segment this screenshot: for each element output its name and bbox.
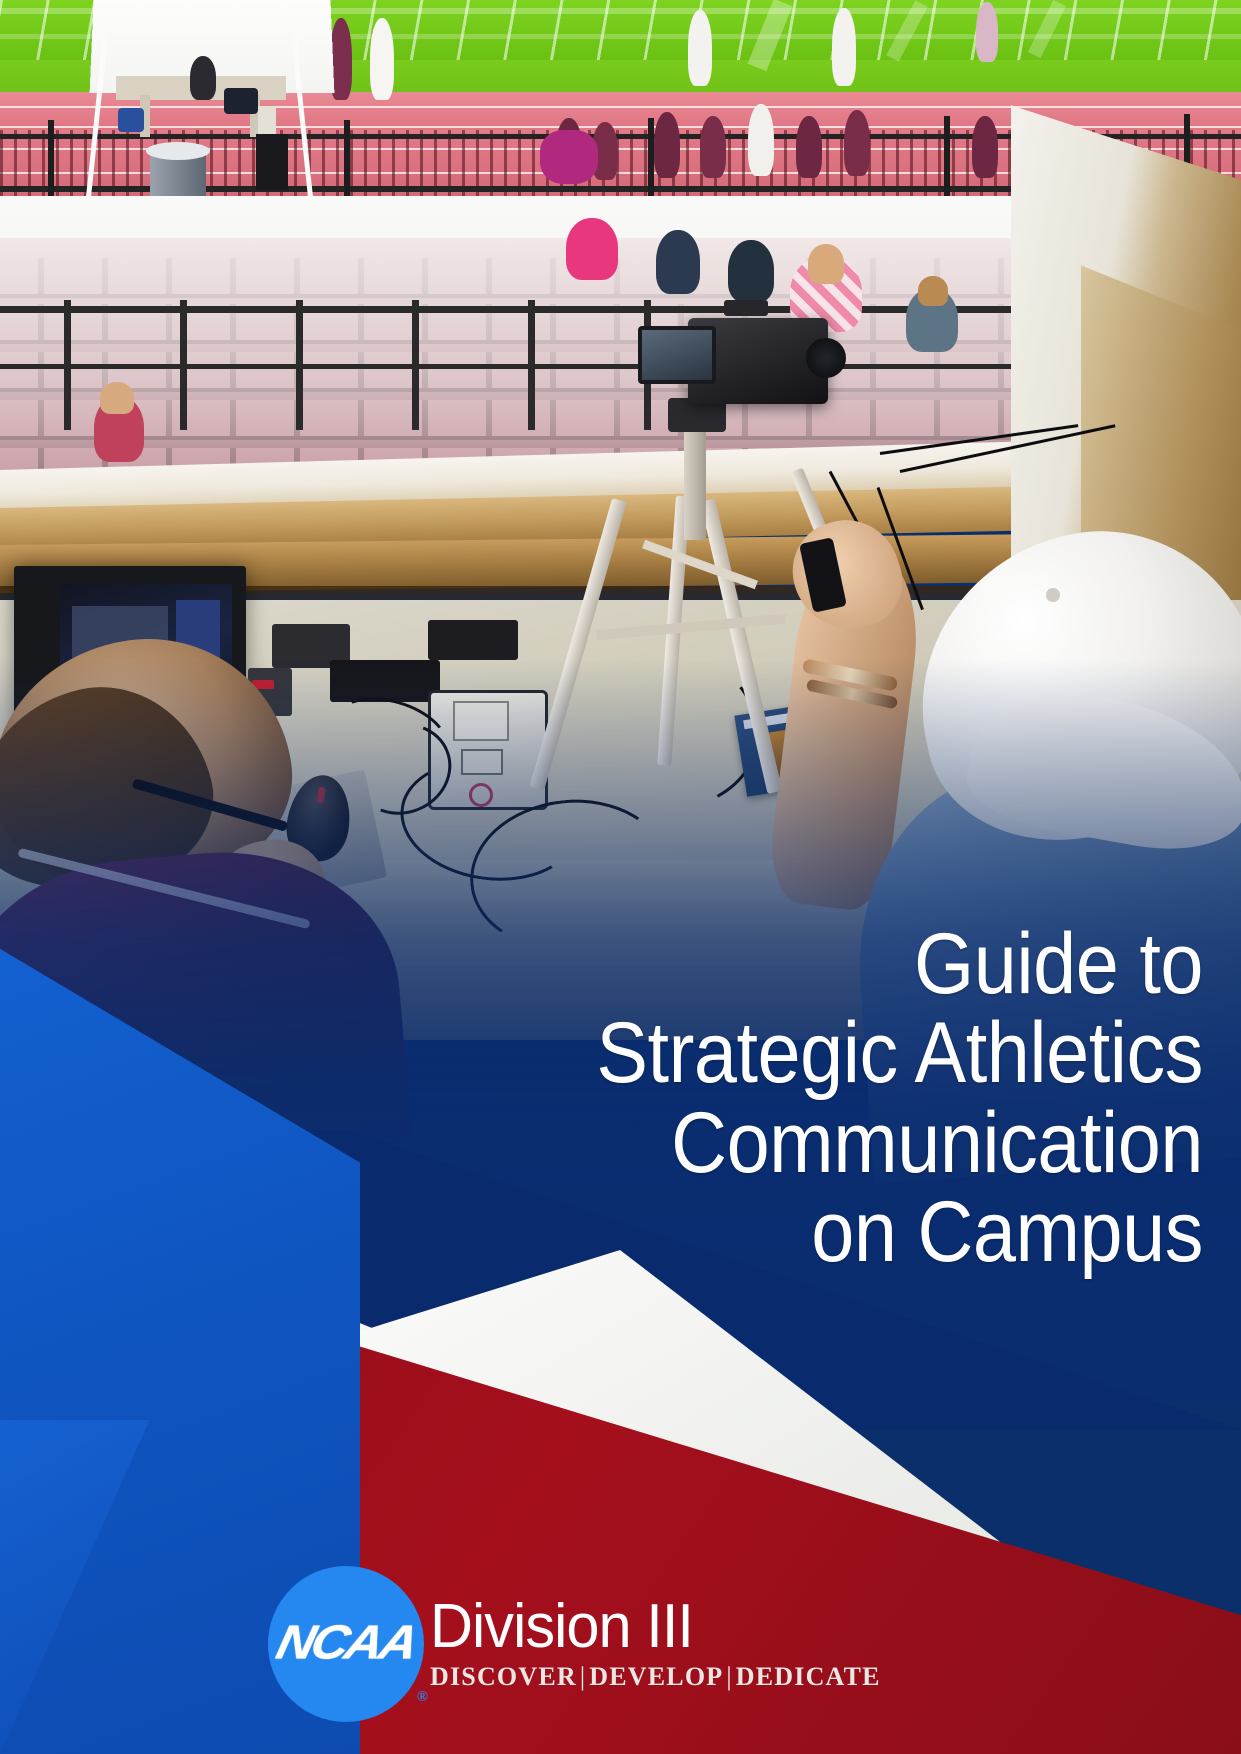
equipment-bag <box>224 88 258 114</box>
athlete-figure <box>654 112 680 178</box>
camcorder-lens <box>806 338 846 378</box>
spectator-figure <box>566 218 618 280</box>
title-line-1: Guide to <box>537 920 1203 1009</box>
ncaa-division-iii-logo: NCAA ® Division III DISCOVER|DEVELOP|DED… <box>268 1566 881 1722</box>
title-line-3: Communication <box>537 1099 1203 1188</box>
trash-liner <box>146 142 210 160</box>
tagline-separator-1: | <box>577 1662 589 1691</box>
tagline-discover: DISCOVER <box>430 1662 577 1691</box>
athlete-figure <box>972 116 998 178</box>
spectator-figure <box>100 382 134 414</box>
athlete-figure <box>540 130 598 184</box>
division-label: Division III <box>430 1596 863 1658</box>
athlete-figure <box>700 116 726 178</box>
tagline-dedicate: DEDICATE <box>736 1662 881 1691</box>
spectator-figure <box>656 230 700 294</box>
network-switch <box>428 620 518 660</box>
title-line-4: on Campus <box>537 1188 1203 1277</box>
athlete-figure <box>796 116 822 178</box>
official-figure <box>190 56 216 100</box>
spectator-figure <box>918 276 948 306</box>
spectator-figure <box>728 240 774 302</box>
equipment-bag <box>118 108 144 132</box>
spectator-figure <box>808 244 844 284</box>
tagline-separator-2: | <box>723 1662 735 1691</box>
athlete-figure <box>370 18 394 100</box>
logo-text-group: Division III DISCOVER|DEVELOP|DEDICATE <box>430 1566 881 1692</box>
tagline-develop: DEVELOP <box>589 1662 723 1691</box>
ncaa-wordmark: NCAA <box>271 1615 420 1670</box>
athlete-figure <box>688 10 712 86</box>
sign-placard <box>256 134 288 190</box>
athlete-figure <box>976 2 998 62</box>
cap-button <box>1046 588 1060 602</box>
registered-trademark-icon: ® <box>417 1689 428 1706</box>
camcorder-screen <box>638 326 716 384</box>
athlete-figure <box>748 104 774 176</box>
athlete-figure <box>844 110 870 176</box>
tripod-column <box>684 420 706 540</box>
power-adapter <box>330 660 440 702</box>
ncaa-logo-icon: NCAA ® <box>268 1566 424 1722</box>
title-line-2: Strategic Athletics <box>537 1009 1203 1098</box>
brand-tagline: DISCOVER|DEVELOP|DEDICATE <box>430 1662 881 1692</box>
page-title: Guide to Strategic Athletics Communicati… <box>463 920 1203 1278</box>
publication-cover: Guide to Strategic Athletics Communicati… <box>0 0 1241 1754</box>
athlete-figure <box>832 8 856 86</box>
camcorder-microphone <box>724 300 768 316</box>
